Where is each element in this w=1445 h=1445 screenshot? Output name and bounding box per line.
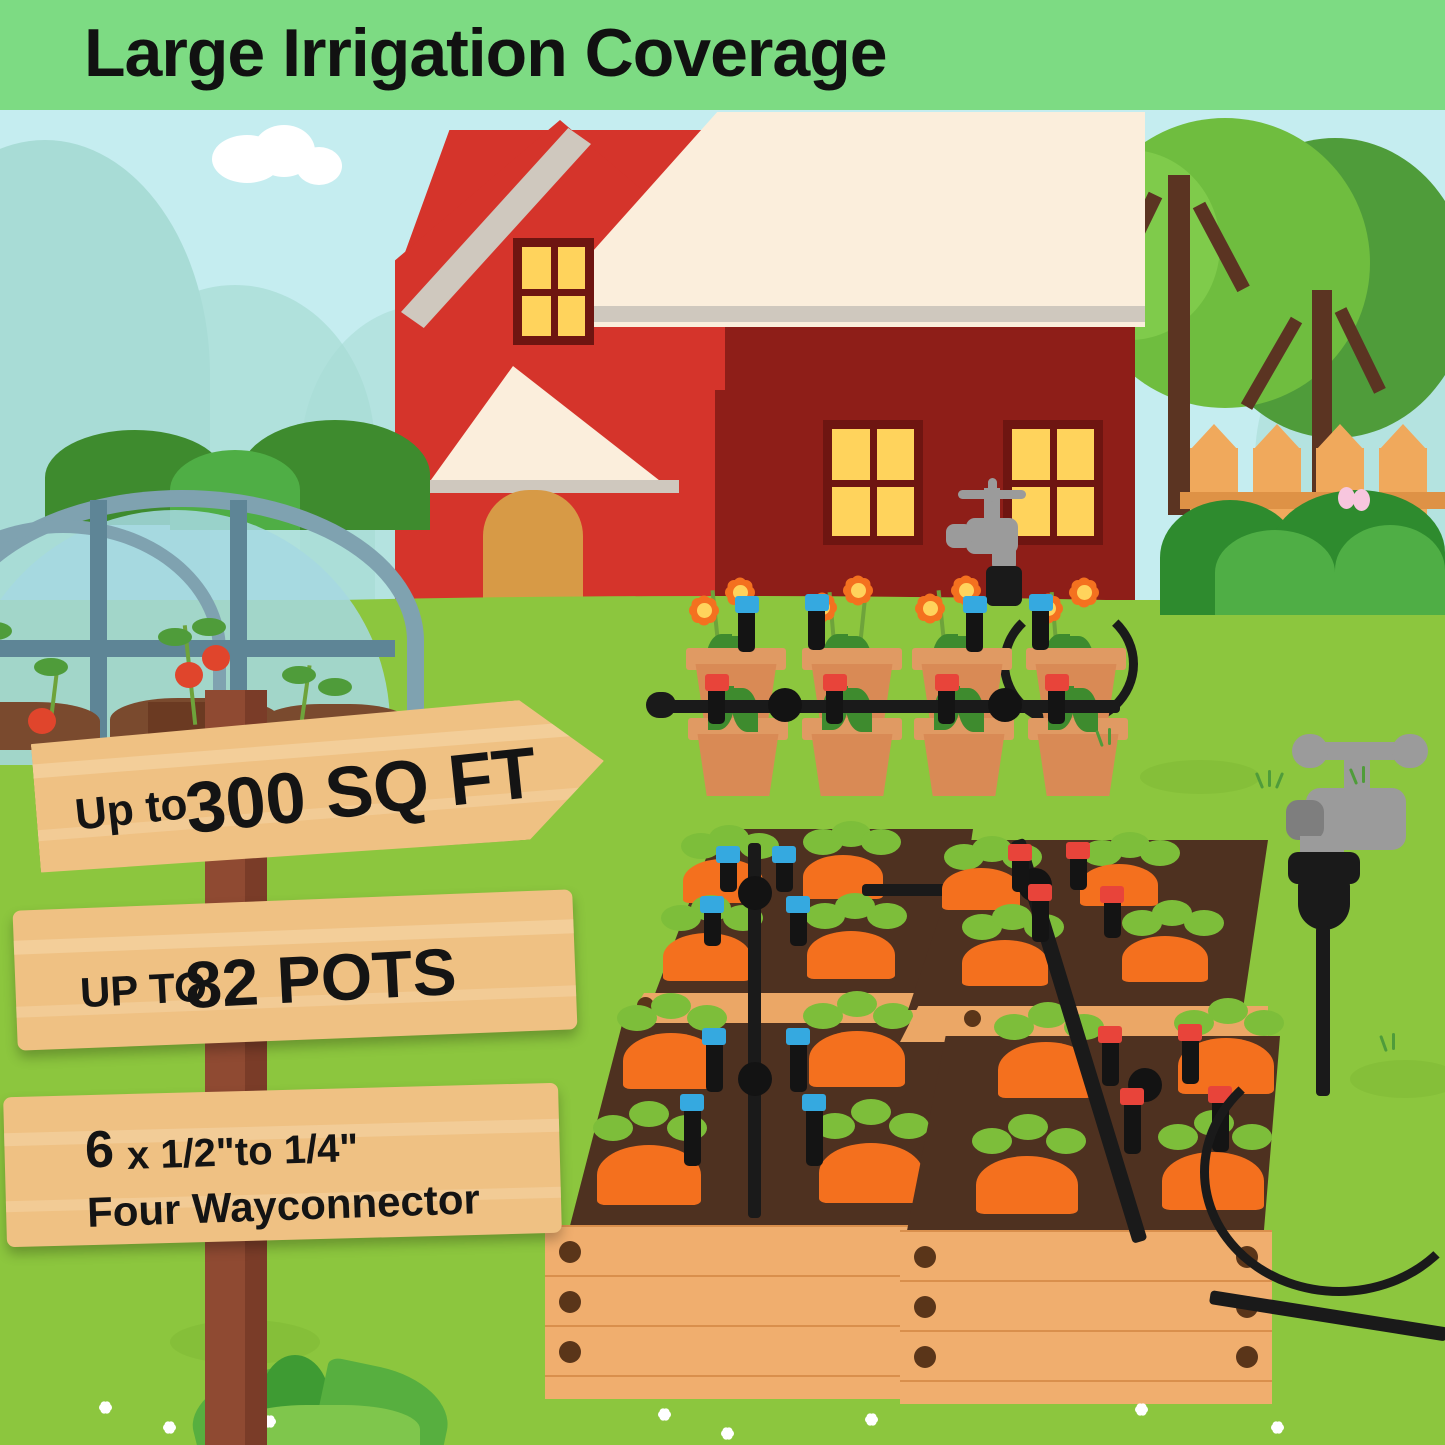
drip-emitter-cap-blue	[802, 1094, 826, 1111]
greenhouse-mullion-h	[0, 640, 395, 657]
drip-emitter-cap-red	[935, 674, 959, 691]
drip-emitter-cap-blue	[786, 896, 810, 913]
carrot	[807, 931, 895, 979]
tube-end-cap	[646, 692, 676, 718]
four-way-connector	[738, 1062, 772, 1096]
daisy	[1268, 1418, 1285, 1435]
wall-spigot-connector	[986, 566, 1022, 606]
bed-plank	[900, 1230, 1272, 1282]
drip-emitter-cap-red	[705, 674, 729, 691]
yard-spigot-handle-knob-left	[1292, 734, 1328, 768]
grass-tuft	[1268, 770, 1271, 787]
house	[395, 120, 1195, 630]
yard-spigot-connector-body	[1298, 876, 1350, 930]
tomato-fruit	[175, 662, 203, 688]
carrot	[1122, 936, 1208, 982]
flower-pot	[918, 734, 1010, 796]
drip-emitter-cap-red	[1178, 1024, 1202, 1041]
bush	[1215, 530, 1335, 615]
house-window-right	[1003, 420, 1103, 545]
daisy	[160, 1418, 177, 1435]
four-way-connector	[738, 876, 772, 910]
cloud-c	[296, 147, 342, 185]
house-window-gable	[513, 238, 594, 345]
daisy	[718, 1424, 735, 1441]
header-banner: Large Irrigation Coverage	[0, 0, 1445, 110]
bush	[1335, 525, 1445, 615]
drip-emitter-cap-red	[1120, 1088, 1144, 1105]
carrot-greens	[970, 1114, 1080, 1158]
house-window-left	[823, 420, 923, 545]
yard-spigot-neck	[1286, 800, 1324, 840]
daisy	[96, 1398, 113, 1415]
drip-emitter-cap-blue	[702, 1028, 726, 1045]
bed-bolt	[914, 1346, 936, 1368]
drip-emitter-cap-blue	[1029, 594, 1053, 611]
bed-bolt	[1236, 1346, 1258, 1368]
drip-emitter-cap-red	[1008, 844, 1032, 861]
drip-emitter-cap-blue	[700, 896, 724, 913]
daisy	[1132, 1400, 1149, 1417]
tomato-leaf	[192, 618, 226, 636]
carrot-greens	[801, 991, 911, 1035]
carrot	[976, 1156, 1078, 1214]
sign-text-connector-count: 6	[84, 1120, 115, 1181]
yard-spigot-handle-knob-right	[1392, 734, 1428, 768]
butterfly-wing-right	[1353, 489, 1370, 511]
bed-bolt	[964, 1010, 981, 1027]
drip-emitter-cap-blue	[716, 846, 740, 863]
bed-plank	[900, 1280, 1272, 1332]
bed-plank	[900, 1330, 1272, 1382]
wall-spigot-handle-stem	[988, 478, 997, 502]
page-title: Large Irrigation Coverage	[84, 14, 887, 92]
drip-emitter-cap-red	[1100, 886, 1124, 903]
grass-tuft	[1392, 1033, 1395, 1050]
drip-emitter-cap-red	[1028, 884, 1052, 901]
carrot	[962, 940, 1048, 986]
flower	[1062, 570, 1106, 614]
tomato-fruit	[28, 708, 56, 734]
carrot	[809, 1031, 905, 1087]
daisy	[655, 1405, 672, 1422]
lawn-patch	[1140, 760, 1260, 794]
flower-pot	[692, 734, 784, 796]
wall-spigot-neck	[946, 524, 972, 548]
drip-emitter-cap-red	[1098, 1026, 1122, 1043]
sign-text-pots-big: 82 POTS	[183, 933, 458, 1023]
bed-plank-bottom	[900, 1380, 1272, 1404]
grass-tuft	[1108, 728, 1111, 745]
drip-emitter-cap-blue	[680, 1094, 704, 1111]
product-infographic: Up to 300 SQ FT UP TO 82 POTS 6 x 1/2"to…	[0, 0, 1445, 1445]
flower-pot	[806, 734, 898, 796]
drip-emitter-cap-red	[1066, 842, 1090, 859]
bed-bolt	[914, 1246, 936, 1268]
drip-emitter-cap-blue	[963, 596, 987, 613]
window-mullion-horizontal	[1012, 480, 1094, 487]
tomato-leaf	[158, 628, 192, 646]
tomato-leaf	[34, 658, 68, 676]
drip-emitter-cap-blue	[735, 596, 759, 613]
drip-emitter-cap-blue	[772, 846, 796, 863]
drip-emitter-cap-blue	[805, 594, 829, 611]
four-way-connector	[768, 688, 802, 722]
daisy	[862, 1410, 879, 1427]
butterfly	[1338, 487, 1372, 513]
drip-emitter-cap-blue	[786, 1028, 810, 1045]
signpost: Up to 300 SQ FT UP TO 82 POTS 6 x 1/2"to…	[205, 690, 625, 1445]
house-roof-edge-main	[525, 306, 1145, 322]
grass-tuft	[1362, 766, 1365, 783]
drip-emitter-cap-red	[823, 674, 847, 691]
four-way-connector	[988, 688, 1022, 722]
tomato-fruit	[202, 645, 230, 671]
drip-emitter-cap-red	[1045, 674, 1069, 691]
sign-text-connector-size: x 1/2"to 1/4"	[126, 1126, 359, 1179]
window-mullion-horizontal	[522, 289, 585, 296]
bed-bolt	[914, 1296, 936, 1318]
tomato-leaf	[282, 666, 316, 684]
window-mullion-horizontal	[832, 480, 914, 487]
flower	[836, 568, 880, 612]
